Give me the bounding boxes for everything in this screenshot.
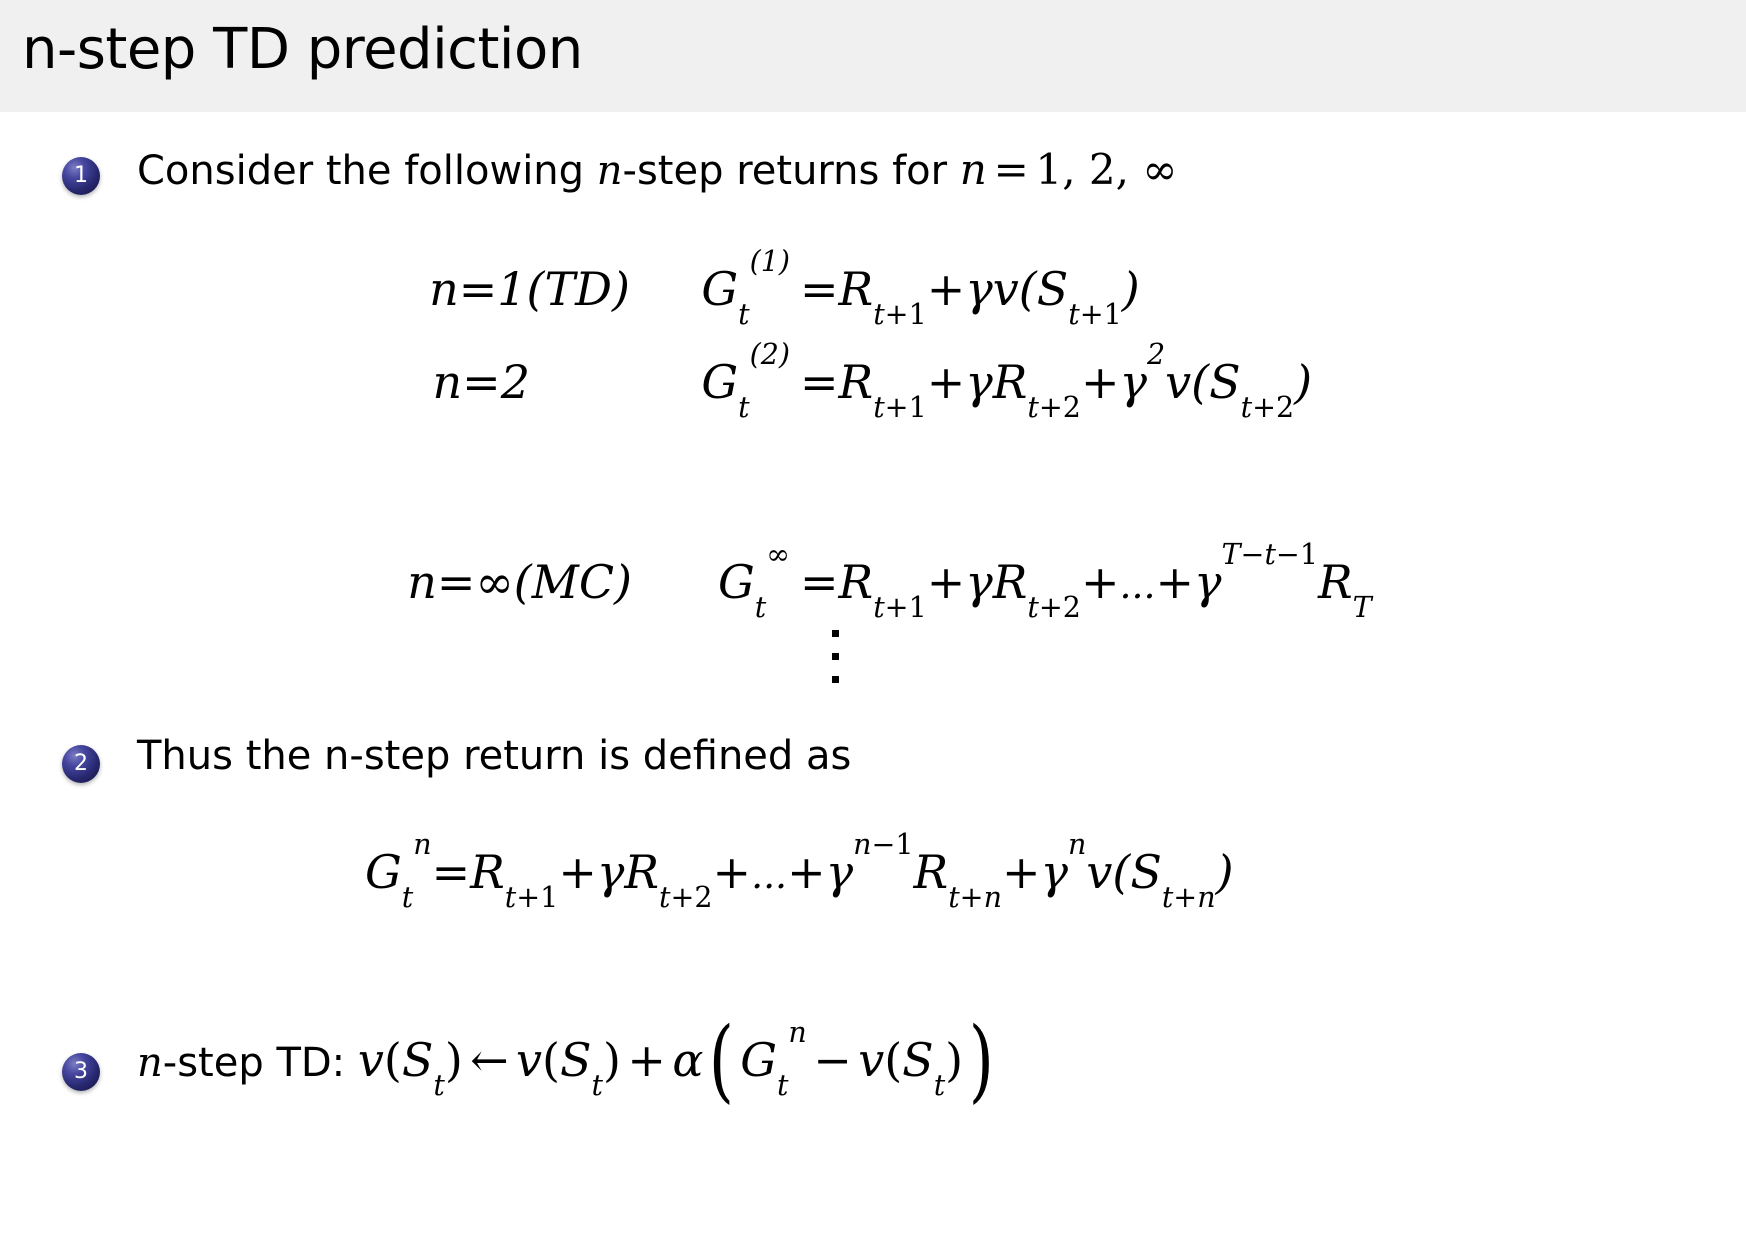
eq2-G-sup: (2) (750, 338, 790, 371)
eq2-gamma-1: γ (965, 355, 993, 409)
eq4-plus-3: + (787, 845, 826, 899)
eq3-mid: Gt∞ (640, 555, 790, 609)
eq4-gamma3-exp: n (1068, 828, 1086, 861)
eq4-S-sub-n: n (1197, 881, 1215, 914)
eq5-alpha: α (672, 1033, 703, 1087)
eq1-lhs-n: n (429, 262, 459, 316)
eq3-R2-sub-t: t (1027, 591, 1038, 624)
eq1-rel: = (800, 262, 839, 316)
eq1-v: v (993, 262, 1019, 316)
eq5-G-sup: n (788, 1016, 806, 1049)
sym-infinity: ∞ (1142, 145, 1177, 194)
eq2-R1: R (839, 355, 874, 409)
eq5-S1: S (402, 1033, 434, 1087)
eq2-rhs: =Rt+1+γRt+2+γ2v(St+2) (800, 355, 1312, 409)
eq5-S1-sub: t (433, 1069, 444, 1102)
eq3-exp-minus-2: − (1276, 538, 1300, 571)
eq3-lhs-n: n (407, 555, 437, 609)
eq5-v2: v (516, 1033, 542, 1087)
eq4-v: v (1086, 845, 1112, 899)
sym-two: 2 (1089, 145, 1116, 194)
eq4-ellipsis: ... (751, 853, 787, 897)
eq4-R3: R (914, 845, 949, 899)
sym-equals: = (987, 145, 1036, 194)
frame-title-bar: n-step TD prediction (0, 0, 1746, 112)
eq3-exp-one: 1 (1300, 538, 1318, 571)
eq1-plus: + (927, 262, 966, 316)
eq3-R1-sub-t: t (873, 591, 884, 624)
eq3-G-sup: ∞ (766, 538, 790, 571)
eq3-ellipsis: ... (1119, 563, 1155, 607)
eq3-rhs: =Rt+1+γRt+2+...+γT−t−1RT (800, 555, 1372, 609)
enum-badge-3: 3 (62, 1053, 100, 1091)
eq5-minus: − (807, 1033, 858, 1087)
eq5-G-sub: t (777, 1069, 788, 1102)
eq3-rel: = (800, 555, 839, 609)
eq2-S-sub-2: 2 (1276, 391, 1294, 424)
eq1-G: G (701, 262, 738, 316)
eq4-R1: R (470, 845, 505, 899)
eq2-lhs-n: n (433, 355, 463, 409)
eq4-G: G (365, 845, 402, 899)
eq1-lhs-td: TD (544, 262, 612, 316)
eq3-RT: R (1318, 555, 1353, 609)
eq3-G-sub: t (755, 591, 766, 624)
eq4-exp-one: 1 (895, 828, 913, 861)
eq1-R-sub-t: t (873, 298, 884, 331)
eq1-S: S (1037, 262, 1069, 316)
eq4-exp-n: n (853, 828, 871, 861)
eq1-G-sub: t (738, 298, 749, 331)
item1-n-symbol: n (597, 148, 623, 194)
eq2-rel: = (800, 355, 839, 409)
item1-mid: -step returns for (623, 148, 960, 194)
vdot-3 (832, 676, 839, 683)
eq2-lhs-num: 2 (501, 355, 530, 409)
eq5-plus: + (621, 1033, 672, 1087)
eq3-exp-T: T (1222, 538, 1241, 571)
sym-n: n (960, 145, 987, 194)
eq2-R2-sub-2: 2 (1063, 391, 1081, 424)
eq1-lhs-num: 1 (497, 262, 526, 316)
eq3-RT-sub: T (1353, 591, 1372, 624)
eq1-R-sub-1: 1 (909, 298, 927, 331)
item3-label: -step TD: (163, 1040, 345, 1086)
eq4-R3-sub-t: t (948, 881, 959, 914)
eq4-gamma-2: γ (826, 845, 854, 899)
enum-item-2-text: Thus the n-step return is defined as (137, 733, 851, 779)
page-title: n-step TD prediction (22, 17, 583, 82)
eq2-v: v (1165, 355, 1191, 409)
eq3-plus-1: + (927, 555, 966, 609)
eq4-plus-4: + (1002, 845, 1041, 899)
eq4-plus-2: + (713, 845, 752, 899)
eq4-S: S (1130, 845, 1162, 899)
eq5-S2-sub: t (592, 1069, 603, 1102)
sym-one: 1 (1035, 145, 1062, 194)
item3-n-symbol: n (137, 1040, 163, 1086)
eq1-mid: Gt(1) (640, 262, 790, 316)
eq4-gamma-1: γ (597, 845, 625, 899)
eq5-S3-sub: t (934, 1069, 945, 1102)
item1-lead: Consider the following (137, 148, 597, 194)
eq1-S-sub-1: 1 (1104, 298, 1122, 331)
eq2-plus-1: + (927, 355, 966, 409)
eq3-R2-sub-2: 2 (1063, 591, 1081, 624)
eq5-v1: v (358, 1033, 384, 1087)
item1-math-tail: n=1, 2, ∞ (960, 145, 1178, 194)
eq4-rel: = (432, 845, 471, 899)
eq3-R1-sub-1: 1 (909, 591, 927, 624)
eq3-plus-2: + (1081, 555, 1120, 609)
eq4-plus-1: + (558, 845, 597, 899)
vdot-2 (832, 653, 839, 660)
eq2-lhs: n=2 (0, 355, 530, 409)
eq2-G-sub: t (738, 391, 749, 424)
enum-badge-2: 2 (62, 745, 100, 783)
eq4-R2: R (624, 845, 659, 899)
eq3-plus-3: + (1155, 555, 1194, 609)
eq3-lhs-eq: = (437, 555, 476, 609)
eq4-R1-sub-1: 1 (540, 881, 558, 914)
eq4-exp-minus: − (871, 828, 895, 861)
eq3-G: G (718, 555, 755, 609)
eq4-R1-sub-t: t (505, 881, 516, 914)
eq3-gamma-3: γ (1194, 555, 1222, 609)
eq1-lhs-eq: = (459, 262, 498, 316)
eq1-gamma: γ (965, 262, 993, 316)
slide-body: 1 Consider the following n-step returns … (0, 112, 1746, 1256)
eq2-S-sub-t: t (1241, 391, 1252, 424)
eq4-gamma-3: γ (1040, 845, 1068, 899)
eq3-lhs: n=∞(MC) (0, 555, 632, 609)
eq5-G: G (740, 1033, 777, 1087)
eq5-S3: S (902, 1033, 934, 1087)
eq4-S-sub-t: t (1162, 881, 1173, 914)
eq3-R2: R (993, 555, 1028, 609)
eq3-exp-minus-1: − (1241, 538, 1265, 571)
eq2-R2: R (993, 355, 1028, 409)
eq4-G-sub: t (402, 881, 413, 914)
eq4-R2-sub-2: 2 (694, 881, 712, 914)
eq4-R2-sub-t: t (659, 881, 670, 914)
enum-item-3-text: n-step TD: v(St)←v(St)+α(Gtn−v(St)) (137, 1034, 1000, 1087)
enum-item-1-text: Consider the following n-step returns fo… (137, 146, 1177, 194)
eq3-lhs-mc: MC (532, 555, 614, 609)
eq2-lhs-eq: = (462, 355, 501, 409)
eq1-lhs: n=1(TD) (0, 262, 630, 316)
eq2-mid: Gt(2) (640, 355, 790, 409)
eq5-S2: S (560, 1033, 592, 1087)
eq2-R1-sub-t: t (873, 391, 884, 424)
eq4-G-sup: n (413, 828, 431, 861)
vdot-1 (832, 630, 839, 637)
eq1-G-sup: (1) (750, 245, 790, 278)
eq1-R: R (839, 262, 874, 316)
eq2-S: S (1209, 355, 1241, 409)
eq2-R1-sub-1: 1 (909, 391, 927, 424)
equation-group-2: Gtn=Rt+1+γRt+2+...+γn−1Rt+n+γnv(St+n) (365, 845, 1234, 899)
vertical-dots (832, 630, 840, 683)
eq3-lhs-inf: ∞ (475, 555, 513, 609)
eq2-R2-sub-t: t (1027, 391, 1038, 424)
enum-badge-1: 1 (62, 157, 100, 195)
eq2-G: G (701, 355, 738, 409)
eq2-gamma-2: γ (1119, 355, 1147, 409)
eq1-rhs: =Rt+1+γv(St+1) (800, 262, 1140, 316)
eq2-gamma-exp: 2 (1147, 338, 1165, 371)
eq5-expression: v(St)←v(St)+α(Gtn−v(St)) (358, 1033, 1000, 1087)
eq5-v3: v (858, 1033, 884, 1087)
eq5-arrow: ← (463, 1033, 516, 1087)
eq2-plus-2: + (1081, 355, 1120, 409)
eq3-R1: R (839, 555, 874, 609)
eq3-exp-t: t (1264, 538, 1275, 571)
eq3-gamma-1: γ (965, 555, 993, 609)
eq4-R3-sub-n: n (984, 881, 1002, 914)
eq1-S-sub-t: t (1068, 298, 1079, 331)
